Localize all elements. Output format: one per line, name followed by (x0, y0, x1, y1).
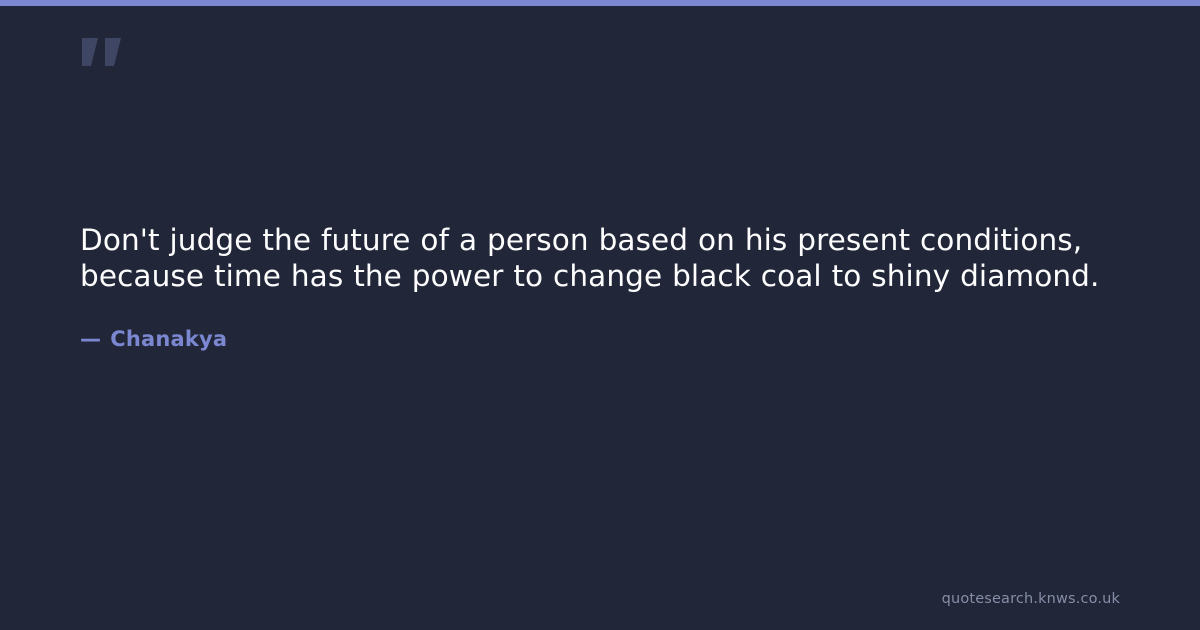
quote-body: Don't judge the future of a person based… (80, 222, 1120, 352)
footer-source-url: quotesearch.knws.co.uk (942, 590, 1120, 608)
quote-card: Don't judge the future of a person based… (0, 0, 1200, 630)
quote-text: Don't judge the future of a person based… (80, 222, 1120, 294)
attribution-author: Chanakya (110, 327, 227, 351)
top-accent-bar (0, 0, 1200, 6)
quote-attribution: —Chanakya (80, 294, 1120, 352)
double-left-quotation-mark-icon (80, 22, 140, 82)
attribution-dash: — (80, 326, 101, 352)
quote-glyph-svg (80, 22, 140, 82)
